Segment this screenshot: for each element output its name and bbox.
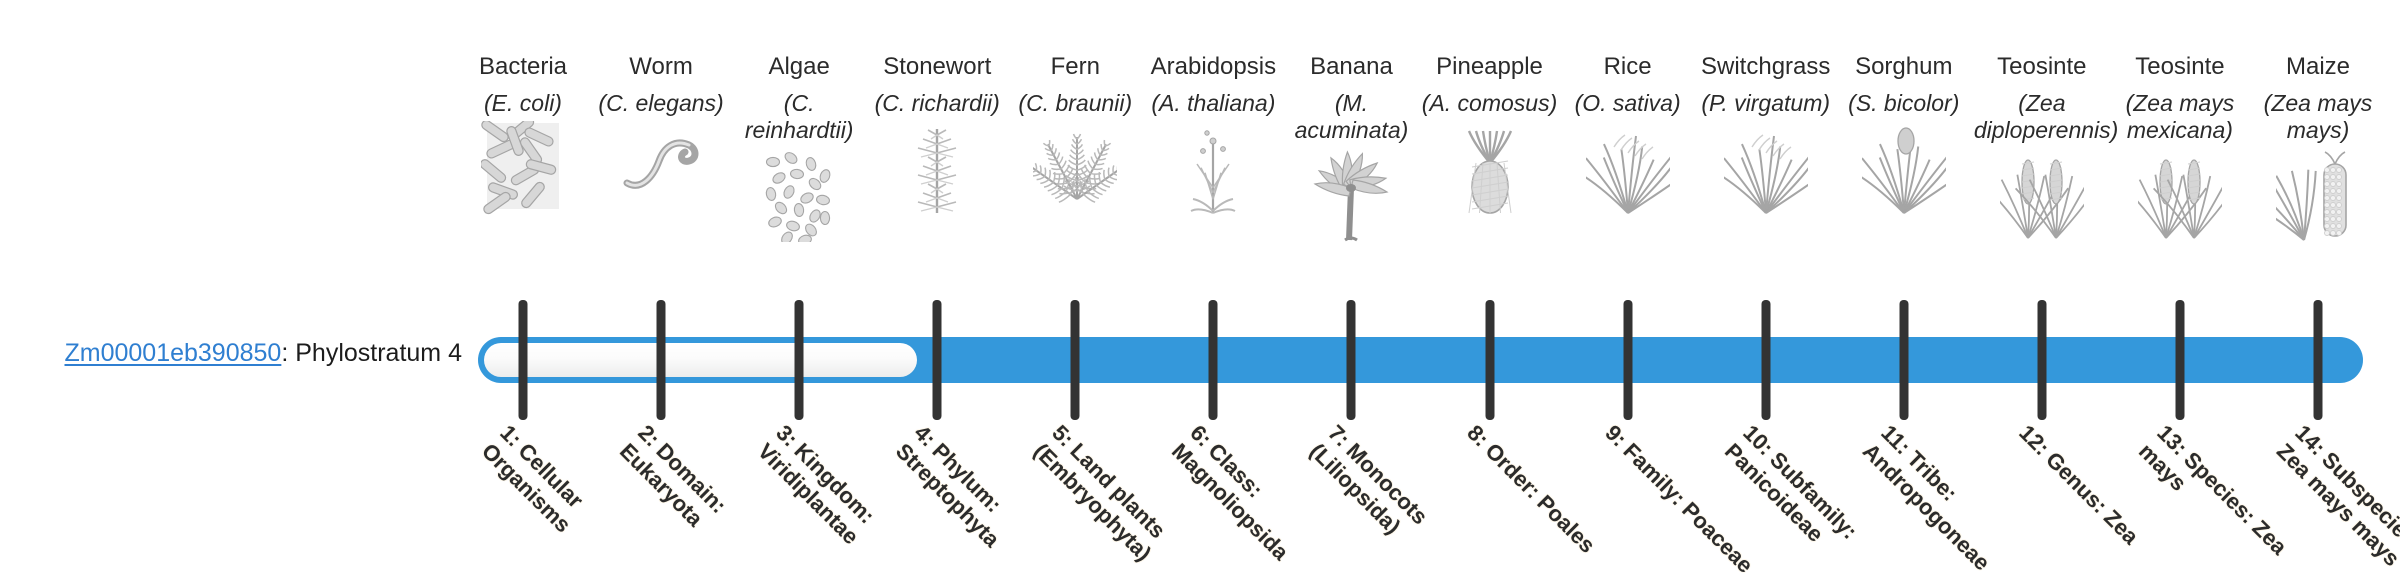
species-common-name: Fern xyxy=(1007,52,1143,82)
species-scientific-name: (Zea mays mexicana) xyxy=(2112,90,2248,144)
species-column: Switchgrass(P. virgatum) xyxy=(1698,52,1834,215)
stratum-tick[interactable] xyxy=(2175,300,2184,420)
stratum-name: Kingdom: Viridiplantae xyxy=(753,438,880,549)
species-scientific-name: (C. reinhardtii) xyxy=(731,90,867,144)
species-scientific-name: (S. bicolor) xyxy=(1836,90,1972,117)
stratum-tick[interactable] xyxy=(1347,300,1356,420)
stratum-name: Phylum: Streptophyta xyxy=(891,438,1007,552)
stratum-number: 12: xyxy=(2014,420,2054,460)
stratum-label: 8: Order: Poales xyxy=(1461,420,1628,580)
species-common-name: Sorghum xyxy=(1836,52,1972,82)
phylostratum-value: Phylostratum 4 xyxy=(295,339,462,367)
switchgrass-icon xyxy=(1698,123,1834,215)
worm-icon xyxy=(593,123,729,215)
stratum-name: Domain: Eukaryota xyxy=(615,438,732,531)
species-scientific-name: (C. richardii) xyxy=(869,90,1005,117)
stratum-tick[interactable] xyxy=(1485,300,1494,420)
maize-icon xyxy=(2250,150,2386,242)
stratum-name: Order: Poales xyxy=(1480,438,1600,558)
sorghum-icon xyxy=(1836,123,1972,215)
gene-label-separator: : xyxy=(281,339,295,367)
teosinte-mexicana-icon xyxy=(2112,150,2248,242)
species-column: Pineapple(A. comosus) xyxy=(1422,52,1558,215)
stratum-name: Species: Zea mays xyxy=(2134,439,2292,560)
gene-id-link[interactable]: Zm00001eb390850 xyxy=(64,339,281,367)
species-column: Worm(C. elegans) xyxy=(593,52,729,215)
species-common-name: Banana xyxy=(1283,52,1419,82)
species-common-name: Stonewort xyxy=(869,52,1005,82)
species-column: Banana(M. acuminata) xyxy=(1283,52,1419,242)
species-scientific-name: (Zea diploperennis) xyxy=(1974,90,2110,144)
species-column: Teosinte(Zea diploperennis) xyxy=(1974,52,2110,242)
species-common-name: Switchgrass xyxy=(1698,52,1834,82)
stratum-name: Cellular Organisms xyxy=(477,438,589,537)
species-common-name: Teosinte xyxy=(2112,52,2248,82)
species-column: Sorghum(S. bicolor) xyxy=(1836,52,1972,215)
algae-icon xyxy=(731,150,867,242)
phylostratum-timeline-figure: Zm00001eb390850: Phylostratum 4 Bacteria… xyxy=(0,0,2400,580)
stratum-tick[interactable] xyxy=(1623,300,1632,420)
stratum-tick[interactable] xyxy=(519,300,528,420)
species-scientific-name: (C. elegans) xyxy=(593,90,729,117)
species-scientific-name: (A. comosus) xyxy=(1422,90,1558,117)
banana-icon xyxy=(1283,150,1419,242)
stratum-tick[interactable] xyxy=(2314,300,2323,420)
species-column: Fern(C. braunii) xyxy=(1007,52,1143,215)
arabidopsis-icon xyxy=(1145,123,1281,215)
stratum-name: Monocots (Liliopsida) xyxy=(1305,438,1433,539)
species-scientific-name: (O. sativa) xyxy=(1560,90,1696,117)
species-common-name: Worm xyxy=(593,52,729,82)
stratum-tick[interactable] xyxy=(933,300,942,420)
stratum-tick[interactable] xyxy=(1899,300,1908,420)
rice-icon xyxy=(1560,123,1696,215)
teosinte-diplo-icon xyxy=(1974,150,2110,242)
stratum-tick[interactable] xyxy=(1071,300,1080,420)
stratum-name: Subfamily: Panicoideae xyxy=(1719,439,1862,547)
stonewort-icon xyxy=(869,123,1005,215)
stratum-tick[interactable] xyxy=(2037,300,2046,420)
species-common-name: Rice xyxy=(1560,52,1696,82)
species-scientific-name: (C. braunii) xyxy=(1007,90,1143,117)
stratum-label-group: 1: Cellular Organisms2: Domain: Eukaryot… xyxy=(478,420,2363,580)
species-column: Rice(O. sativa) xyxy=(1560,52,1696,215)
species-common-name: Maize xyxy=(2250,52,2386,82)
species-scientific-name: (P. virgatum) xyxy=(1698,90,1834,117)
bacteria-icon xyxy=(455,123,591,215)
species-common-name: Algae xyxy=(731,52,867,82)
species-common-name: Teosinte xyxy=(1974,52,2110,82)
species-column: Bacteria(E. coli) xyxy=(455,52,591,215)
species-scientific-name: (M. acuminata) xyxy=(1283,90,1419,144)
species-common-name: Pineapple xyxy=(1422,52,1558,82)
stratum-name: Genus: Zea xyxy=(2041,447,2143,549)
species-column: Algae(C. reinhardtii) xyxy=(731,52,867,242)
stratum-tick-group xyxy=(478,300,2363,420)
species-common-name: Arabidopsis xyxy=(1145,52,1281,82)
fern-icon xyxy=(1007,123,1143,215)
stratum-tick[interactable] xyxy=(657,300,666,420)
species-common-name: Bacteria xyxy=(455,52,591,82)
species-scientific-name: (Zea mays mays) xyxy=(2250,90,2386,144)
species-column: Stonewort(C. richardii) xyxy=(869,52,1005,215)
gene-phylostratum-label: Zm00001eb390850: Phylostratum 4 xyxy=(0,338,462,368)
species-scientific-name: (A. thaliana) xyxy=(1145,90,1281,117)
stratum-tick[interactable] xyxy=(1761,300,1770,420)
stratum-tick[interactable] xyxy=(795,300,804,420)
species-scientific-name: (E. coli) xyxy=(455,90,591,117)
pineapple-icon xyxy=(1422,123,1558,215)
species-column: Teosinte(Zea mays mexicana) xyxy=(2112,52,2248,242)
species-column: Maize(Zea mays mays) xyxy=(2250,52,2386,242)
species-column: Arabidopsis(A. thaliana) xyxy=(1145,52,1281,215)
species-header-row: Bacteria(E. coli)Worm(C. elegans) Algae(… xyxy=(478,52,2363,302)
stratum-tick[interactable] xyxy=(1209,300,1218,420)
